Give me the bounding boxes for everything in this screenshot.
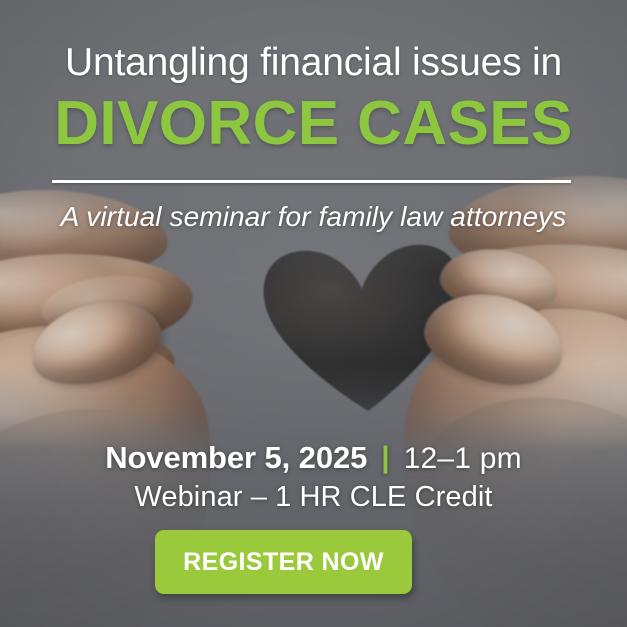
event-details: Webinar – 1 HR CLE Credit — [0, 481, 627, 514]
page-title: DIVORCE CASES — [0, 93, 627, 155]
kicker-text: Untangling financial issues in — [0, 42, 627, 84]
dateline-separator: | — [381, 441, 389, 474]
register-now-button[interactable]: REGISTER NOW — [155, 530, 412, 594]
subtitle-text: A virtual seminar for family law attorne… — [0, 201, 627, 233]
event-dateline: November 5, 2025|12–1 pm — [0, 440, 627, 476]
promo-content: Untangling financial issues in DIVORCE C… — [0, 0, 627, 627]
divider — [52, 180, 571, 183]
promo-banner: Untangling financial issues in DIVORCE C… — [0, 0, 627, 627]
event-date: November 5, 2025 — [105, 440, 367, 475]
event-time: 12–1 pm — [404, 442, 522, 475]
